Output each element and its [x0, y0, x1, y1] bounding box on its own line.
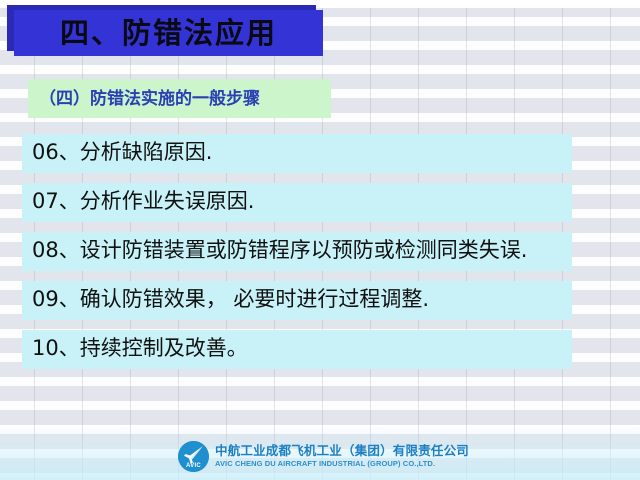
- step-text: 10、持续控制及改善。: [32, 335, 562, 363]
- step-text: 09、确认防错效果， 必要时进行过程调整.: [32, 286, 562, 314]
- steps-list: 06、分析缺陷原因. 07、分析作业失误原因. 08、设计防错装置或防错程序以预…: [22, 134, 572, 379]
- list-item: 07、分析作业失误原因.: [22, 183, 572, 222]
- page-title: 四、防错法应用: [60, 19, 277, 48]
- logo-company-text: 中航工业成都飞机工业（集团）有限责任公司 AVIC CHENG DU AIRCR…: [215, 445, 469, 468]
- list-item: 08、设计防错装置或防错程序以预防或检测同类失误.: [22, 232, 572, 271]
- company-name-cn: 中航工业成都飞机工业（集团）有限责任公司: [215, 445, 469, 459]
- slide-title-banner: 四、防错法应用: [14, 10, 323, 56]
- top-white-band: [0, 0, 640, 8]
- slide-canvas: 四、防错法应用 （四）防错法实施的一般步骤 06、分析缺陷原因. 07、分析作业…: [0, 0, 640, 480]
- step-text: 07、分析作业失误原因.: [32, 188, 562, 216]
- list-item: 06、分析缺陷原因.: [22, 134, 572, 173]
- avic-aircraft-logo-icon: AVIC: [178, 441, 209, 472]
- step-text: 08、设计防错装置或防错程序以预防或检测同类失误.: [32, 237, 562, 265]
- logo-abbr: AVIC: [178, 463, 209, 469]
- subtitle-box: （四）防错法实施的一般步骤: [28, 79, 331, 118]
- subtitle-text: （四）防错法实施的一般步骤: [28, 90, 260, 107]
- list-item: 10、持续控制及改善。: [22, 330, 572, 369]
- company-name-en: AVIC CHENG DU AIRCRAFT INDUSTRIAL (GROUP…: [215, 459, 469, 468]
- footer-logo: AVIC 中航工业成都飞机工业（集团）有限责任公司 AVIC CHENG DU …: [178, 441, 469, 472]
- list-item: 09、确认防错效果， 必要时进行过程调整.: [22, 281, 572, 320]
- step-text: 06、分析缺陷原因.: [32, 139, 562, 167]
